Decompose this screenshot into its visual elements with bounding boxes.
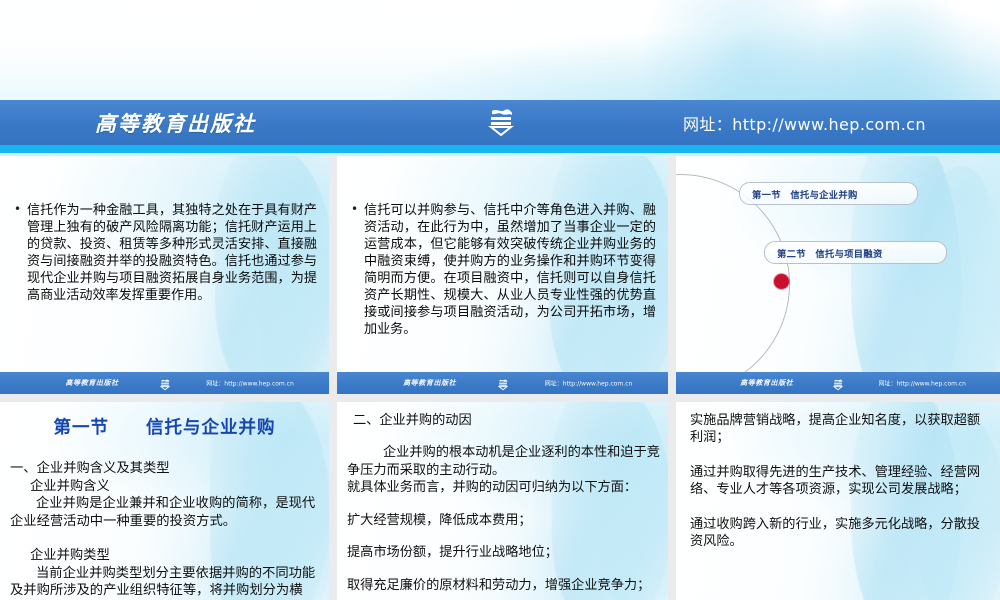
bl-sub-1: 企业并购含义 bbox=[10, 478, 321, 496]
agenda-diagram: 第一节 信托与企业并购 第二节 信托与项目融资 bbox=[676, 156, 1000, 394]
bm-heading: 二、企业并购的动因 bbox=[347, 412, 660, 429]
grid-gutter-vertical-1 bbox=[329, 156, 337, 600]
agenda-item-section-1[interactable]: 第一节 信托与企业并购 bbox=[739, 182, 918, 205]
slide-bottom-middle-body: 二、企业并购的动因 企业并购的根本动机是企业逐利的本性和迫于竞争压力而采取的主动… bbox=[347, 412, 660, 594]
slide-top-left-bullet-text: 信托作为一种金融工具，其独特之处在于具有财产管理上独有的破产风险隔离功能；信托财… bbox=[27, 202, 317, 304]
slide-footer-bar: 高等教育出版社 网址：http://www.hep.com.cn bbox=[337, 372, 668, 394]
agenda-item-section-2[interactable]: 第二节 信托与项目融资 bbox=[764, 241, 947, 264]
slide-footer-bar: 高等教育出版社 网址：http://www.hep.com.cn bbox=[0, 372, 329, 394]
bl-heading: 一、企业并购含义及其类型 bbox=[10, 460, 321, 478]
br-item-1: 实施品牌营销战略，提高企业知名度，以获取超额利润； bbox=[690, 412, 990, 447]
slide-footer-bar: 高等教育出版社 网址：http://www.hep.com.cn bbox=[676, 372, 1000, 394]
slide-bottom-middle[interactable]: 二、企业并购的动因 企业并购的根本动机是企业逐利的本性和迫于竞争压力而采取的主动… bbox=[337, 402, 668, 600]
slide-bottom-left-title: 第一节 信托与企业并购 bbox=[0, 414, 329, 439]
stacked-books-emblem-icon bbox=[833, 377, 844, 390]
stacked-books-emblem-icon bbox=[497, 377, 508, 390]
bullet-marker-icon: • bbox=[14, 202, 27, 218]
publisher-brand-logo: 高等教育出版社 bbox=[95, 108, 256, 138]
banner-accent-bar bbox=[0, 145, 1000, 153]
page-header-backdrop bbox=[0, 0, 1000, 100]
br-item-3: 通过收购跨入新的行业，实施多元化战略，分散投资风险。 bbox=[690, 516, 990, 551]
slide-bottom-left[interactable]: 第一节 信托与企业并购 一、企业并购含义及其类型 企业并购含义 企业并购是企业兼… bbox=[0, 402, 329, 600]
agenda-circle-arc bbox=[676, 174, 790, 394]
slide-top-middle-body: • 信托可以并购参与、信托中介等角色进入并购、融资活动，在此行为中，虽然增加了当… bbox=[351, 202, 656, 338]
agenda-item-section-1-label: 第一节 信托与企业并购 bbox=[740, 187, 858, 201]
bullet-marker-icon: • bbox=[351, 202, 364, 218]
slide-footer-brand: 高等教育出版社 bbox=[66, 378, 119, 388]
publisher-banner: 高等教育出版社 网址：http://www.hep.com.cn bbox=[0, 100, 1000, 145]
bl-sub-2: 企业并购类型 bbox=[10, 547, 321, 565]
slide-grid: • 信托作为一种金融工具，其独特之处在于具有财产管理上独有的破产风险隔离功能；信… bbox=[0, 156, 1000, 600]
agenda-current-section-marker-icon bbox=[774, 274, 789, 289]
slide-footer-url: 网址：http://www.hep.com.cn bbox=[545, 379, 633, 388]
slide-footer-url: 网址：http://www.hep.com.cn bbox=[878, 379, 966, 388]
br-item-2: 通过并购取得先进的生产技术、管理经验、经营网络、专业人才等各项资源，实现公司发展… bbox=[690, 464, 990, 499]
bl-para-2: 当前企业并购类型划分主要依据并购的不同功能及并购所涉及的产业组织特征等，将并购划… bbox=[10, 565, 321, 600]
slide-bottom-right[interactable]: 实施品牌营销战略，提高企业知名度，以获取超额利润； 通过并购取得先进的生产技术、… bbox=[676, 402, 1000, 600]
bl-para-1: 企业并购是企业兼并和企业收购的简称，是现代企业经营活动中一种重要的投资方式。 bbox=[10, 495, 321, 530]
bm-para-2: 就具体业务而言，并购的动因可归纳为以下方面： bbox=[347, 479, 660, 496]
slide-top-left[interactable]: • 信托作为一种金融工具，其独特之处在于具有财产管理上独有的破产风险隔离功能；信… bbox=[0, 156, 329, 394]
slide-footer-brand: 高等教育出版社 bbox=[403, 378, 456, 388]
slide-top-left-body: • 信托作为一种金融工具，其独特之处在于具有财产管理上独有的破产风险隔离功能；信… bbox=[14, 202, 317, 304]
bm-item-2: 提高市场份额，提升行业战略地位； bbox=[347, 544, 660, 561]
slide-bottom-right-body: 实施品牌营销战略，提高企业知名度，以获取超额利润； 通过并购取得先进的生产技术、… bbox=[690, 412, 990, 551]
grid-gutter-horizontal bbox=[0, 394, 1000, 402]
presentation-handout-page: 高等教育出版社 网址：http://www.hep.com.cn bbox=[0, 0, 1000, 600]
slide-footer-url: 网址：http://www.hep.com.cn bbox=[206, 379, 294, 388]
stacked-books-emblem-icon bbox=[487, 107, 515, 139]
bm-item-3: 取得充足廉价的原材料和劳动力，增强企业竞争力； bbox=[347, 577, 660, 594]
publisher-website-url[interactable]: 网址：http://www.hep.com.cn bbox=[683, 111, 926, 135]
slide-top-right-agenda[interactable]: 第一节 信托与企业并购 第二节 信托与项目融资 高等教育出版社 bbox=[676, 156, 1000, 394]
slide-bottom-left-body: 一、企业并购含义及其类型 企业并购含义 企业并购是企业兼并和企业收购的简称，是现… bbox=[10, 460, 321, 600]
slide-top-middle[interactable]: • 信托可以并购参与、信托中介等角色进入并购、融资活动，在此行为中，虽然增加了当… bbox=[337, 156, 668, 394]
slide-top-middle-bullet-text: 信托可以并购参与、信托中介等角色进入并购、融资活动，在此行为中，虽然增加了当事企… bbox=[364, 202, 656, 338]
bm-para-1: 企业并购的根本动机是企业逐利的本性和迫于竞争压力而采取的主动行动。 bbox=[347, 444, 660, 479]
slide-footer-brand: 高等教育出版社 bbox=[740, 378, 793, 388]
bm-item-1: 扩大经营规模，降低成本费用； bbox=[347, 512, 660, 529]
stacked-books-emblem-icon bbox=[159, 377, 170, 390]
agenda-item-section-2-label: 第二节 信托与项目融资 bbox=[765, 246, 883, 260]
grid-gutter-vertical-2 bbox=[668, 156, 676, 600]
